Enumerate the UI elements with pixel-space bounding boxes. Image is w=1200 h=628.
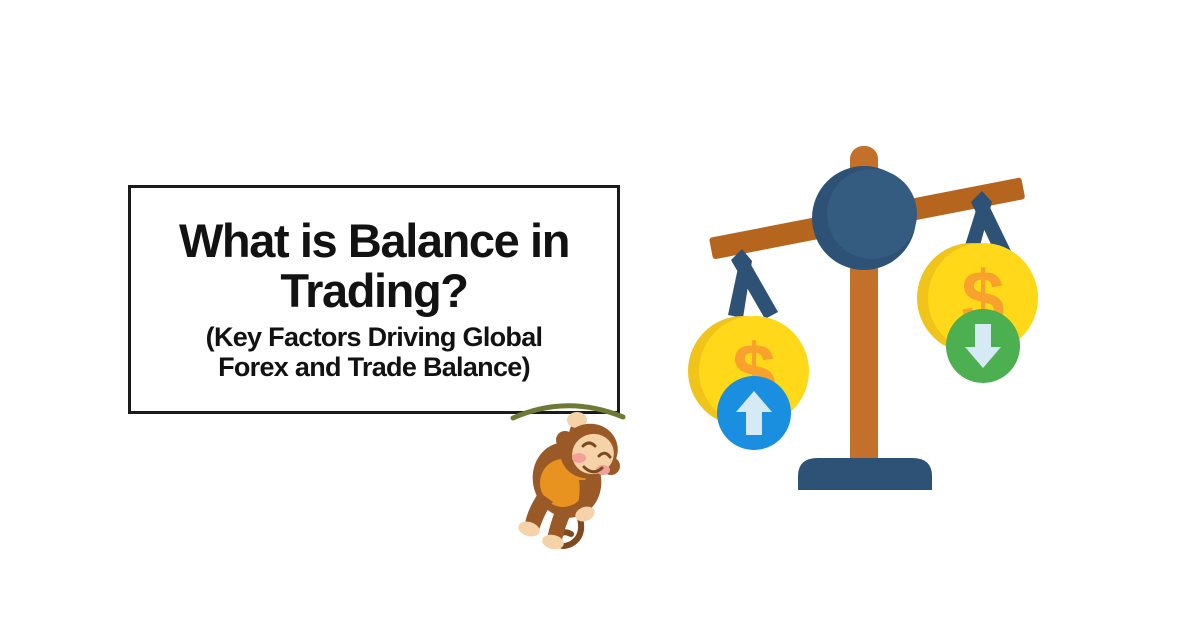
page-subtitle: (Key Factors Driving Global Forex and Tr… bbox=[200, 322, 549, 382]
pivot-highlight bbox=[827, 169, 917, 259]
left-up-arrow-badge bbox=[717, 376, 791, 450]
vine-branch bbox=[513, 406, 623, 418]
scale-pivot bbox=[812, 166, 917, 270]
balance-scale-illustration: $ $ bbox=[686, 128, 1076, 503]
poster-canvas: What is Balance in Trading? (Key Factors… bbox=[0, 0, 1200, 628]
balance-scale-svg: $ $ bbox=[686, 128, 1076, 503]
page-title: What is Balance in Trading? bbox=[169, 216, 579, 316]
monkey-svg bbox=[505, 388, 655, 568]
monkey-cheek-left bbox=[572, 453, 586, 463]
left-hanger bbox=[728, 249, 778, 319]
right-down-arrow-badge bbox=[946, 309, 1020, 383]
title-card: What is Balance in Trading? (Key Factors… bbox=[128, 185, 620, 414]
scale-base bbox=[798, 458, 932, 490]
hanging-monkey-illustration bbox=[505, 388, 655, 568]
